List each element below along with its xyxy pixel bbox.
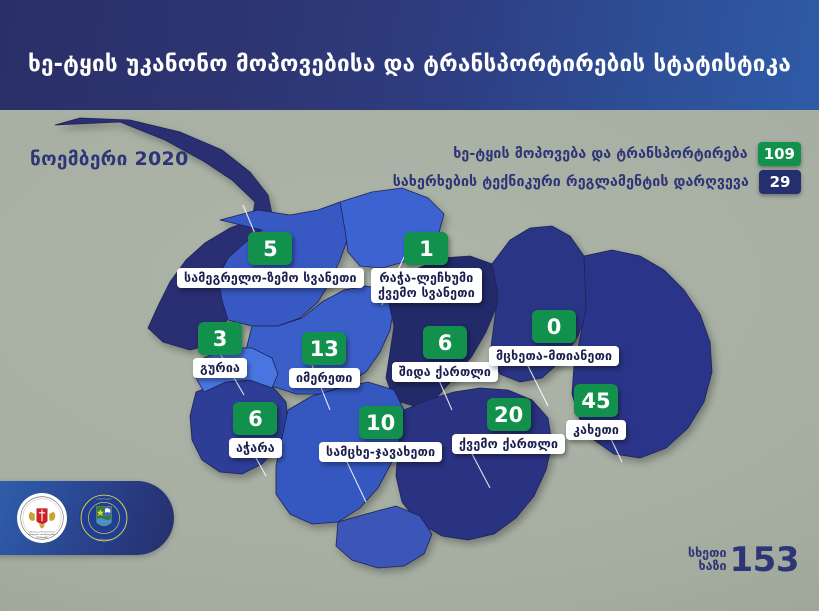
map-marker-label-racha: რაჭა-ლეჩხუმი ქვემო სვანეთი [371,268,482,303]
map-marker-value-racha: 1 [404,232,448,265]
map-marker-shida-kartli[interactable]: 6 შიდა ქართლი [392,326,498,382]
total-label-line2: ხაზი [688,560,727,573]
map-marker-label-guria: გურია [193,358,247,378]
ministry-of-environment-seal: Ministry of Environment Protection and A… [16,492,68,544]
map-marker-value-mtskheta: 0 [532,310,576,343]
map-marker-mtskheta[interactable]: 0 მცხეთა-მთიანეთი [489,310,619,366]
legend-badge-sawmill: 29 [759,170,801,194]
infographic-root: ხე-ტყის უკანონო მოპოვებისა და ტრანსპორტი… [0,0,819,611]
map-marker-value-samegrelo: 5 [248,232,292,265]
map-marker-value-kakheti: 45 [574,384,618,417]
map-marker-samegrelo[interactable]: 5 სამეგრელო-ზემო სვანეთი [177,232,364,288]
logo-panel: Ministry of Environment Protection and A… [0,481,174,555]
date-label: ნოემბერი 2020 [30,148,189,170]
map-marker-samtskhe[interactable]: 10 სამცხე-ჯავახეთი [319,406,442,462]
legend: ხე-ტყის მოპოვება და ტრანსპორტირება 109 ს… [393,142,801,194]
map-marker-value-imereti: 13 [302,332,346,365]
map-marker-label-mtskheta: მცხეთა-მთიანეთი [489,346,619,366]
header-banner: ხე-ტყის უკანონო მოპოვებისა და ტრანსპორტი… [0,0,819,110]
map-marker-value-kvemo-kartli: 20 [487,398,531,431]
legend-row-sawmill: სახერხების ტექნიკური რეგლამენტის დარღვევ… [393,170,801,194]
page-title: ხე-ტყის უკანონო მოპოვებისა და ტრანსპორტი… [28,35,791,76]
map-marker-label-kvemo-kartli: ქვემო ქართლი [452,434,565,454]
total-label: სხეთი ხაზი [688,547,727,572]
environmental-supervision-seal: გარემოსდაცვითი ზედამხედველობა [78,492,130,544]
map-marker-value-shida-kartli: 6 [423,326,467,359]
map-marker-racha[interactable]: 1 რაჭა-ლეჩხუმი ქვემო სვანეთი [371,232,482,303]
map-marker-guria[interactable]: 3 გურია [193,322,247,378]
map-marker-label-adjara: აჭარა [229,438,282,458]
legend-badge-harvesting: 109 [758,142,801,166]
legend-label-harvesting: ხე-ტყის მოპოვება და ტრანსპორტირება [453,146,748,162]
total-value: 153 [730,544,799,576]
map-marker-label-shida-kartli: შიდა ქართლი [392,362,498,382]
map-marker-imereti[interactable]: 13 იმერეთი [289,332,360,388]
legend-row-harvesting: ხე-ტყის მოპოვება და ტრანსპორტირება 109 [453,142,801,166]
map-marker-label-imereti: იმერეთი [289,368,360,388]
map-marker-label-samegrelo: სამეგრელო-ზემო სვანეთი [177,268,364,288]
map-region-south-fill [336,506,432,568]
legend-label-sawmill: სახერხების ტექნიკური რეგლამენტის დარღვევ… [393,174,749,190]
total-block: სხეთი ხაზი 153 [688,544,799,576]
map-marker-label-kakheti: კახეთი [566,420,626,440]
map-marker-adjara[interactable]: 6 აჭარა [229,402,282,458]
map-marker-value-guria: 3 [198,322,242,355]
map-marker-label-samtskhe: სამცხე-ჯავახეთი [319,442,442,462]
map-marker-kvemo-kartli[interactable]: 20 ქვემო ქართლი [452,398,565,454]
map-marker-kakheti[interactable]: 45 კახეთი [566,384,626,440]
map-marker-value-samtskhe: 10 [359,406,403,439]
map-marker-value-adjara: 6 [233,402,277,435]
